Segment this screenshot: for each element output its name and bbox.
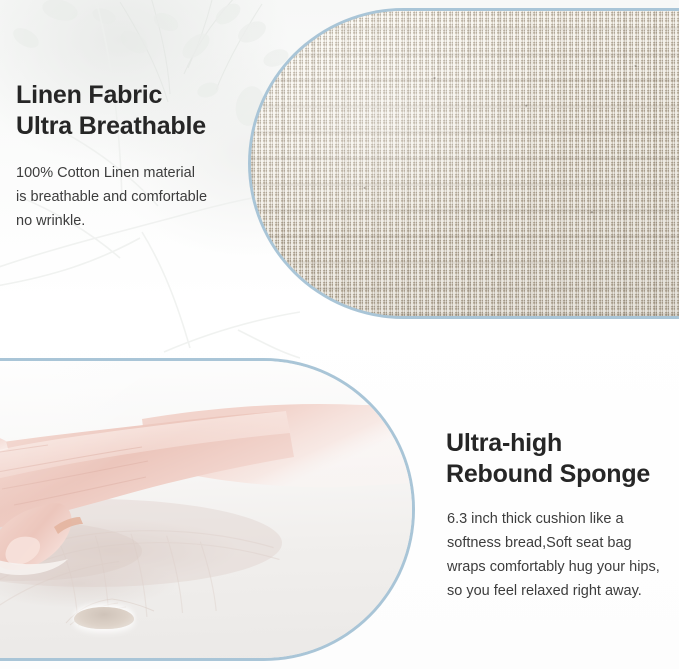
body-line-4: so you feel relaxed right away. <box>447 579 660 603</box>
headline-line-1: Ultra-high <box>446 428 650 459</box>
body-line-3: wraps comfortably hug your hips, <box>447 555 660 579</box>
linen-fabric-description: 100% Cotton Linen material is breathable… <box>16 161 207 233</box>
rebound-sponge-description: 6.3 inch thick cushion like a softness b… <box>447 507 660 603</box>
linen-fabric-headline: Linen Fabric Ultra Breathable <box>16 80 206 142</box>
headline-line-1: Linen Fabric <box>16 80 206 111</box>
body-line-1: 6.3 inch thick cushion like a <box>447 507 660 531</box>
product-feature-graphic: Linen Fabric Ultra Breathable 100% Cotto… <box>0 0 679 669</box>
body-line-2: is breathable and comfortable <box>16 185 207 209</box>
hand-on-foam-image <box>0 361 415 661</box>
rebound-sponge-headline: Ultra-high Rebound Sponge <box>446 428 650 490</box>
headline-line-2: Ultra Breathable <box>16 111 206 142</box>
linen-lighting-overlay <box>251 11 679 316</box>
linen-fabric-image-panel <box>248 8 679 319</box>
body-line-1: 100% Cotton Linen material <box>16 161 207 185</box>
memory-foam-image-panel <box>0 358 415 661</box>
headline-line-2: Rebound Sponge <box>446 459 650 490</box>
body-line-2: softness bread,Soft seat bag <box>447 531 660 555</box>
body-line-3: no wrinkle. <box>16 209 207 233</box>
